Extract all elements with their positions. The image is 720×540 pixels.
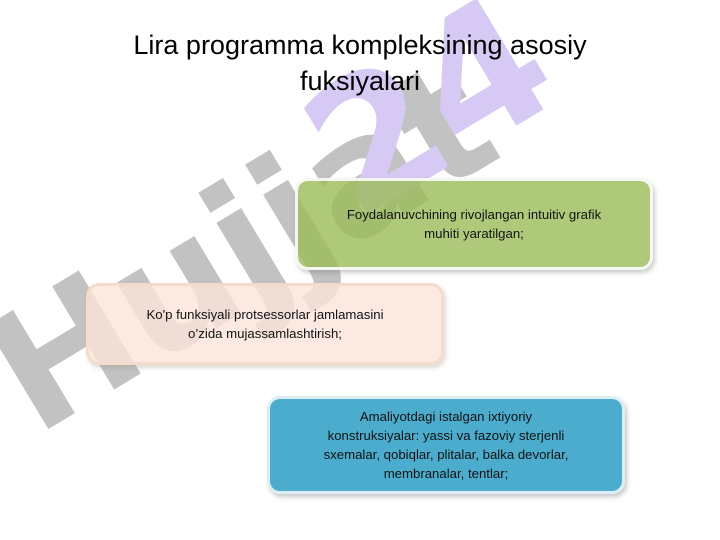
page-title-line-2: fuksiyalari <box>60 64 660 100</box>
callout-box-peach[interactable]: Ko'p funksiyali protsessorlar jamlamasin… <box>86 283 444 365</box>
callout-peach-text: Ko'p funksiyali protsessorlar jamlamasin… <box>89 305 441 343</box>
callout-blue-text: Amaliyotdagi istalgan ixtiyoriy konstruk… <box>270 407 622 484</box>
callout-blue-line-1: Amaliyotdagi istalgan ixtiyoriy <box>284 407 608 426</box>
page-title-line-1: Lira programma kompleksining asosiy <box>60 28 660 64</box>
callout-blue-line-3: sxemalar, qobiqlar, plitalar, balka devo… <box>284 445 608 464</box>
slide-canvas: Hujjat 24 Lira programma kompleksining a… <box>0 0 720 540</box>
callout-blue-line-4: membranalar, tentlar; <box>284 464 608 483</box>
callout-green-line-2: muhiti yaratilgan; <box>312 224 636 243</box>
callout-box-green[interactable]: Foydalanuvchining rivojlangan intuitiv g… <box>295 178 653 270</box>
callout-peach-line-1: Ko'p funksiyali protsessorlar jamlamasin… <box>103 305 427 324</box>
callout-box-blue[interactable]: Amaliyotdagi istalgan ixtiyoriy konstruk… <box>267 396 625 494</box>
callout-peach-line-2: o’zida mujassamlashtirish; <box>103 324 427 343</box>
callout-green-line-1: Foydalanuvchining rivojlangan intuitiv g… <box>312 205 636 224</box>
callout-green-text: Foydalanuvchining rivojlangan intuitiv g… <box>298 205 650 243</box>
callout-blue-line-2: konstruksiyalar: yassi va fazoviy sterje… <box>284 426 608 445</box>
page-title: Lira programma kompleksining asosiy fuks… <box>60 28 660 99</box>
